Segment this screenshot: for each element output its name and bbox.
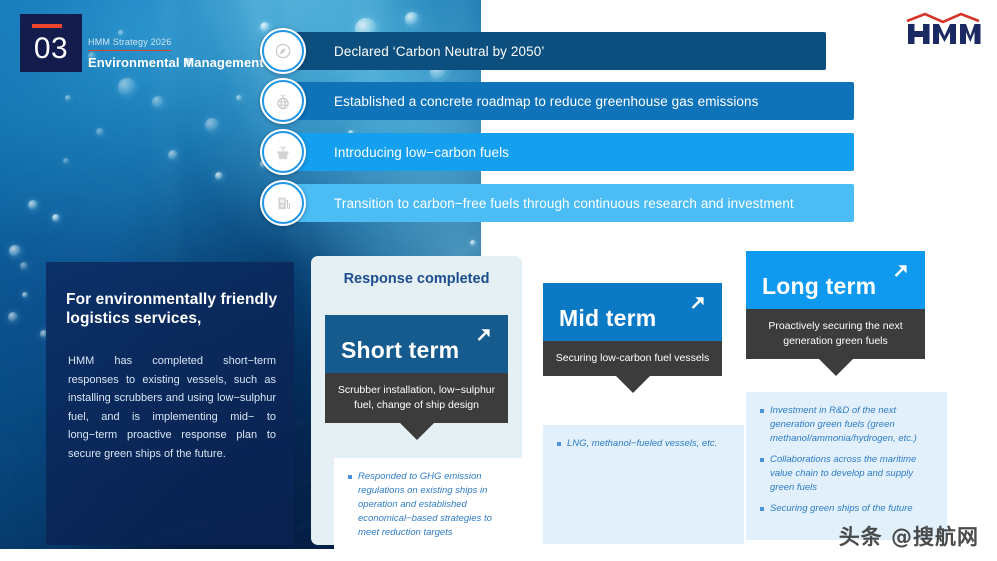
banner-text: Introducing low−carbon fuels xyxy=(334,145,509,160)
banner-row[interactable]: Established a concrete roadmap to reduce… xyxy=(260,82,826,120)
hmm-logo-mark xyxy=(905,12,981,46)
long-term-header: Long term xyxy=(746,251,925,309)
long-term-label: Long term xyxy=(762,273,876,300)
arrow-up-right-icon xyxy=(473,324,495,346)
short-term-subtitle: Scrubber installation, low−sulphur fuel,… xyxy=(325,373,508,423)
section-number: 03 xyxy=(20,32,82,66)
page-title: Environmental Management xyxy=(88,55,264,71)
fuel-pump-icon xyxy=(260,180,306,226)
mid-term-label: Mid term xyxy=(559,305,656,332)
list-item: LNG, methanol−fueled vessels, etc. xyxy=(567,437,732,451)
leaf-compass-icon xyxy=(260,28,306,74)
short-term-notch xyxy=(400,423,434,440)
hmm-logo xyxy=(905,12,981,46)
mid-term-subtitle: Securing low-carbon fuel vessels xyxy=(543,341,722,376)
strategy-kicker: HMM Strategy 2026 xyxy=(88,36,171,51)
list-item: Investment in R&D of the next generation… xyxy=(770,404,935,446)
mid-term-notch xyxy=(616,376,650,393)
short-term-card[interactable]: Short term Scrubber installation, low−su… xyxy=(325,315,508,440)
long-term-bullets: Investment in R&D of the next generation… xyxy=(746,392,947,540)
potted-plant-icon xyxy=(260,129,306,175)
long-term-card[interactable]: Long term Proactively securing the next … xyxy=(746,251,925,376)
short-term-bullets: Responded to GHG emission regulations on… xyxy=(334,458,522,552)
banner-text: Declared ‘Carbon Neutral by 2050’ xyxy=(334,44,544,59)
banner-row[interactable]: Transition to carbon−free fuels through … xyxy=(260,184,826,222)
short-term-header: Short term xyxy=(325,315,508,373)
page-title-block: HMM Strategy 2026 Environmental Manageme… xyxy=(88,32,264,71)
arrow-up-right-icon xyxy=(890,260,912,282)
banner-row[interactable]: Declared ‘Carbon Neutral by 2050’ xyxy=(260,32,826,70)
banner-text: Established a concrete roadmap to reduce… xyxy=(334,94,759,109)
section-number-box: 03 xyxy=(20,14,82,72)
list-item: Securing green ships of the future xyxy=(770,502,935,516)
short-term-label: Short term xyxy=(341,337,459,364)
list-item: Responded to GHG emission regulations on… xyxy=(358,470,510,540)
arrow-up-right-icon xyxy=(687,292,709,314)
globe-sprout-icon xyxy=(260,78,306,124)
banner-text: Transition to carbon−free fuels through … xyxy=(334,196,794,211)
long-term-subtitle: Proactively securing the next generation… xyxy=(746,309,925,359)
intro-heading: For environmentally friendly logistics s… xyxy=(66,290,280,328)
watermark: 头条 @搜航网 xyxy=(839,521,979,551)
mid-term-header: Mid term xyxy=(543,283,722,341)
list-item: Collaborations across the maritime value… xyxy=(770,453,935,495)
intro-body: HMM has completed short−term responses t… xyxy=(68,352,276,463)
response-completed-label: Response completed xyxy=(311,270,522,288)
long-term-notch xyxy=(819,359,853,376)
intro-panel: For environmentally friendly logistics s… xyxy=(46,262,294,545)
banner-row[interactable]: Introducing low−carbon fuels xyxy=(260,133,826,171)
mid-term-bullets: LNG, methanol−fueled vessels, etc. xyxy=(543,425,744,544)
mid-term-card[interactable]: Mid term Securing low-carbon fuel vessel… xyxy=(543,283,722,393)
red-rule xyxy=(32,24,62,28)
slide-canvas: 03 HMM Strategy 2026 Environmental Manag… xyxy=(0,0,997,561)
